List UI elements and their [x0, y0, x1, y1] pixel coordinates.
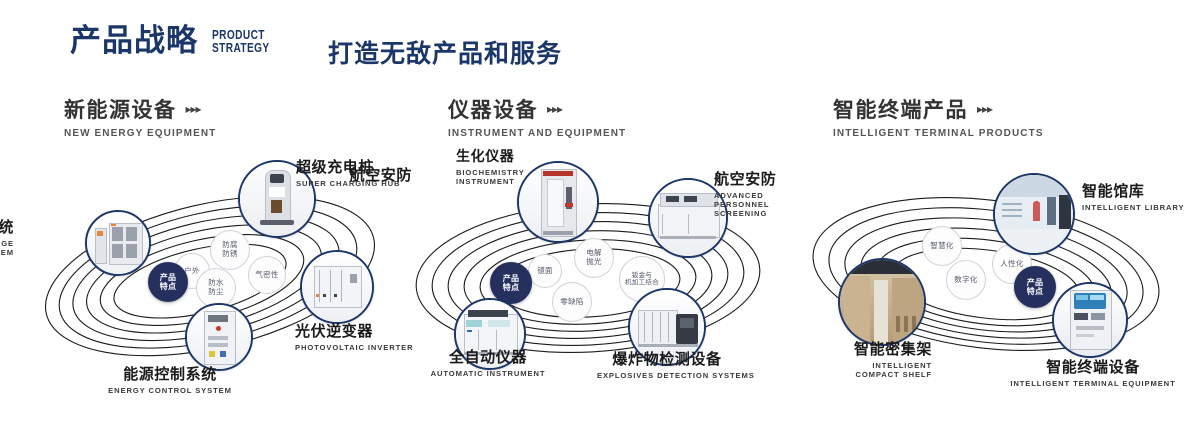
page-title: 产品战略 — [70, 26, 198, 57]
feature-label: 智慧化 — [930, 242, 953, 251]
core-line2: 特点 — [503, 283, 520, 292]
core-bubble-product-features: 产品 特点 — [148, 262, 188, 302]
chevrons-icon: ▸▸▸ — [547, 102, 562, 116]
section-title-new-energy: 新能源设备 ▸▸▸ NEW ENERGY EQUIPMENT — [64, 94, 216, 139]
node-icon-smart-library[interactable] — [993, 173, 1075, 255]
feature-label: 防腐 防锈 — [222, 241, 238, 258]
feature-label: 数字化 — [954, 276, 977, 285]
node-label-intelligent-terminal-equipment: 智能终端设备 INTELLIGENT TERMINAL EQUIPMENT — [1008, 356, 1178, 388]
node-label-energy-storage-system: 储能系统 ENERGY STORAGE SYSTEM — [0, 216, 14, 257]
feature-label: 气密性 — [255, 271, 278, 280]
core-line1: 产品 — [503, 274, 520, 283]
feature-label: 镜面 — [537, 267, 553, 276]
feature-bubble: 电解 抛光 — [574, 238, 614, 278]
page-title-english-line1: PRODUCT — [212, 28, 270, 41]
node-icon-energy-storage-cabinet[interactable] — [85, 210, 151, 276]
section-title-intelligent-terminal: 智能终端产品 ▸▸▸ INTELLIGENT TERMINAL PRODUCTS — [833, 94, 1044, 139]
feature-bubble: 防水 防尘 — [196, 268, 236, 308]
chevrons-icon: ▸▸▸ — [186, 102, 201, 116]
node-label-cn: 生化仪器 — [456, 146, 526, 166]
node-label-cn: 智能终端设备 — [1008, 356, 1178, 377]
core-line1: 产品 — [1027, 278, 1044, 287]
node-label-en: BIOCHEMISTRY INSTRUMENT — [456, 168, 526, 186]
node-icon-inverter-cabinet[interactable] — [300, 250, 374, 324]
node-label-cn: 智能密集架 — [782, 338, 932, 359]
feature-label: 防水 防尘 — [208, 279, 224, 296]
node-label-aviation-security-left: 航空安防 — [344, 164, 412, 187]
node-label-automatic-instrument: 全自动仪器 AUTOMATIC INSTRUMENT — [428, 346, 548, 378]
feature-label: 电解 抛光 — [586, 249, 602, 266]
section-title-cn: 新能源设备 — [64, 94, 177, 124]
node-label-energy-control-system: 能源控制系统 ENERGY CONTROL SYSTEM — [80, 363, 260, 395]
node-icon-control-cabinet[interactable] — [185, 303, 253, 371]
node-label-en: AUTOMATIC INSTRUMENT — [428, 369, 548, 378]
node-label-cn: 航空安防 — [344, 164, 412, 185]
feature-bubble: 智慧化 — [922, 226, 962, 266]
node-label-cn: 爆炸物检测设备 — [597, 348, 737, 369]
cluster-instrument-and-equipment: 镜面 电解 抛光 钣金与 机加工结合 零缺陷 产品 特点 — [392, 158, 792, 408]
node-icon-security-gate[interactable] — [517, 161, 599, 243]
section-title-cn: 智能终端产品 — [833, 94, 968, 124]
node-label-cn: 能源控制系统 — [80, 363, 260, 384]
core-line2: 特点 — [1027, 287, 1044, 296]
node-label-cn: 储能系统 — [0, 216, 14, 237]
core-line1: 产品 — [160, 273, 177, 282]
node-label-cn: 智能馆库 — [1082, 180, 1184, 201]
node-label-en: INTELLIGENT TERMINAL EQUIPMENT — [1008, 379, 1178, 388]
node-label-intelligent-compact-shelf: 智能密集架 INTELLIGENT COMPACT SHELF — [782, 338, 932, 379]
node-label-cn: 全自动仪器 — [428, 346, 548, 367]
node-icon-compact-shelf[interactable] — [838, 258, 926, 346]
page-title-english-line2: STRATEGY — [212, 41, 270, 54]
section-title-en: INSTRUMENT AND EQUIPMENT — [448, 128, 626, 139]
page-subtitle: 打造无敌产品和服务 — [328, 34, 562, 70]
feature-label: 钣金与 机加工结合 — [625, 272, 659, 287]
feature-bubble: 数字化 — [946, 260, 986, 300]
chevrons-icon: ▸▸▸ — [977, 102, 992, 116]
node-label-en: INTELLIGENT COMPACT SHELF — [828, 361, 932, 379]
node-label-en: EXPLOSIVES DETECTION SYSTEMS — [597, 371, 737, 380]
feature-bubble: 镜面 — [528, 254, 562, 288]
node-label-explosives-detection-systems: 爆炸物检测设备 EXPLOSIVES DETECTION SYSTEMS — [597, 348, 737, 380]
feature-bubble: 零缺陷 — [552, 282, 592, 322]
section-title-cn: 仪器设备 — [448, 94, 538, 124]
node-icon-self-service-kiosk[interactable] — [1052, 282, 1128, 358]
node-label-intelligent-library: 智能馆库 INTELLIGENT LIBRARY — [1082, 180, 1184, 212]
node-label-en: ENERGY CONTROL SYSTEM — [80, 386, 260, 395]
page-title-english: PRODUCT STRATEGY — [212, 28, 270, 58]
feature-bubble: 防腐 防锈 — [210, 230, 250, 270]
section-title-en: NEW ENERGY EQUIPMENT — [64, 128, 216, 139]
feature-label: 零缺陷 — [560, 298, 583, 307]
feature-bubble: 气密性 — [248, 256, 286, 294]
core-line2: 特点 — [160, 282, 177, 291]
core-bubble-product-features: 产品 特点 — [1014, 266, 1056, 308]
node-label-en: INTELLIGENT LIBRARY — [1082, 203, 1184, 212]
section-title-en: INTELLIGENT TERMINAL PRODUCTS — [833, 128, 1044, 139]
cluster-new-energy-equipment: 户外 防腐 防锈 防水 防尘 气密性 产品 特点 — [0, 158, 400, 408]
page-header: 产品战略 PRODUCT STRATEGY — [70, 26, 286, 57]
section-title-instrument: 仪器设备 ▸▸▸ INSTRUMENT AND EQUIPMENT — [448, 94, 626, 139]
cluster-intelligent-terminal-products: 智慧化 数字化 人性化 产品 特点 — [790, 158, 1190, 408]
page-root: 产品战略 PRODUCT STRATEGY 打造无敌产品和服务 新能源设备 ▸▸… — [0, 0, 1200, 422]
node-label-en: ENERGY STORAGE SYSTEM — [0, 239, 14, 257]
feature-label: 人性化 — [1000, 260, 1023, 269]
node-label-biochemistry-instrument: 生化仪器 BIOCHEMISTRY INSTRUMENT — [456, 146, 526, 186]
